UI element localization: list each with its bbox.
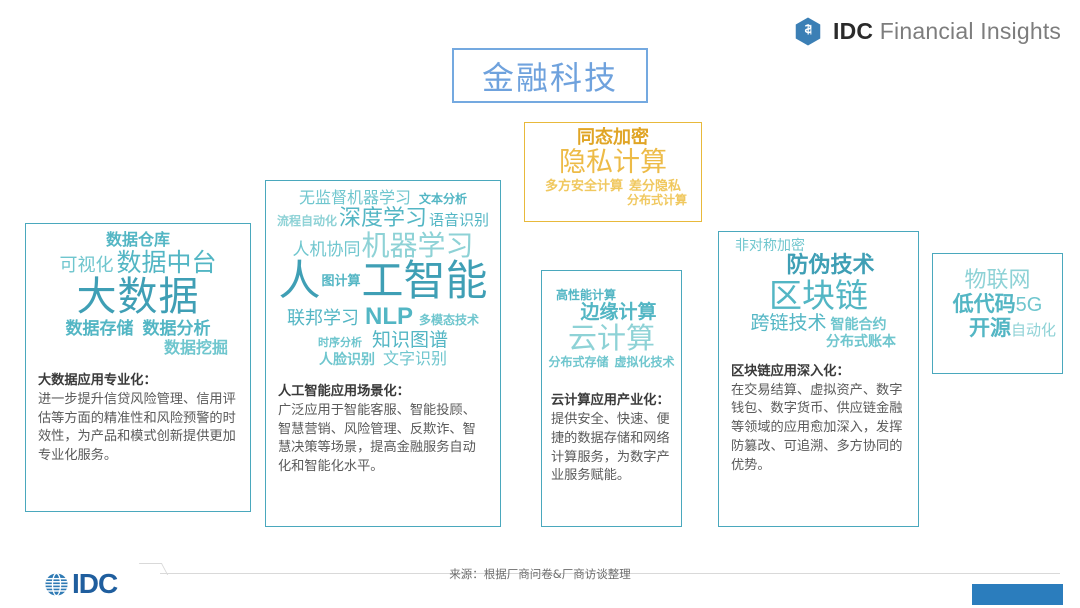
cloud-word: 知识图谱 [372,331,448,350]
cloud-word: 多模态技术 [419,314,479,326]
cloud-word: 低代码 [953,294,1016,315]
card-body-cloud: 云计算应用产业化：提供安全、快速、便捷的数据存储和网络计算服务，为数字产业服务赋… [542,370,681,494]
card-text: 提供安全、快速、便捷的数据存储和网络计算服务，为数字产业服务赋能。 [551,412,670,483]
cloud-word: 文本分析 [419,193,467,205]
cloud-word: 数据仓库 [106,232,170,248]
cloud-word: 5G [1016,295,1043,315]
brand-text: IDC Financial Insights [833,18,1061,45]
idc-logo-word: IDC [72,568,117,600]
cloud-word: 工智能 [362,260,488,303]
card-body-ai: 人工智能应用场景化：广泛应用于智能客服、智能投顾、智慧营销、风险管理、反欺诈、智… [266,369,500,485]
cloud-word: 云计算 [568,324,655,354]
cloud-word: 语音识别 [429,213,489,228]
brand-name-light: Financial Insights [873,18,1061,44]
card-ai[interactable]: 无监督机器学习文本分析 流程自动化深度学习语音识别 人机协同机器学习 人图计算工… [265,180,501,527]
cloud-word: 人脸识别 [319,353,375,367]
cloud-word: 物联网 [964,270,1030,292]
cloud-word: 人 [278,260,320,303]
card-lead: 人工智能应用场景化： [278,383,488,402]
idc-hex-logo-icon [794,16,822,47]
cloud-word: 防伪技术 [786,255,874,277]
cloud-word: 无监督机器学习 [299,190,411,206]
wordcloud-iot: 物联网 低代码5G 开源自动化 [933,254,1062,341]
cloud-word: 高性能计算 [556,289,616,301]
brand-name-bold: IDC [833,18,873,44]
cloud-word: 分布式计算 [627,194,687,206]
wordcloud-privacy: 同态加密 隐私计算 多方安全计算差分隐私 分布式计算 [525,123,701,208]
cloud-word: 多方安全计算 [545,180,623,193]
cloud-word: 可视化 [59,257,113,275]
card-iot[interactable]: 物联网 低代码5G 开源自动化 [932,253,1063,374]
card-body-bigdata: 大数据应用专业化：进一步提升信贷风险管理、信用评估等方面的精准性和风险预警的时效… [26,358,250,474]
card-lead: 云计算应用产业化： [551,392,672,411]
card-privacy-computing[interactable]: 同态加密 隐私计算 多方安全计算差分隐私 分布式计算 [524,122,702,222]
cloud-word: 时序分析 [318,337,362,348]
cloud-word: 数据挖掘 [164,340,228,356]
wordcloud-bigdata: 数据仓库 可视化数据中台 大数据 数据存储数据分析 数据挖掘 [26,224,250,358]
page-title-label: 金融科技 [482,53,618,99]
cloud-word: 图计算 [321,275,360,288]
cloud-word: 开源 [969,318,1011,339]
cloud-word: 差分隐私 [629,180,681,193]
cloud-word: 联邦学习 [287,310,359,328]
cloud-word: 数据中台 [116,250,216,276]
source-note: 来源：根据厂商问卷&厂商访谈整理 [0,566,1080,582]
cloud-word: 区块链 [769,279,868,313]
footer-accent-block [972,584,1063,605]
idc-footer-logo: IDC [44,568,117,600]
cloud-word: 边缘计算 [580,303,656,322]
idc-globe-icon [44,572,69,597]
card-lead: 大数据应用专业化： [38,372,238,391]
cloud-word: 大数据 [77,277,200,318]
idc-financial-insights-brand: IDC Financial Insights [794,16,1061,47]
card-text: 在交易结算、虚拟资产、数字钱包、数字货币、供应链金融等领域的应用愈加深入，发挥防… [731,383,902,473]
cloud-word: 分布式账本 [826,335,896,349]
cloud-word: 分布式存储 [548,356,608,368]
cloud-word: 深度学习 [339,208,427,230]
cloud-word: 数据存储 [66,321,134,338]
card-blockchain[interactable]: 非对称加密 防伪技术 区块链 跨链技术智能合约 分布式账本 区块链应用深入化：在… [718,231,919,527]
cloud-word: 虚拟化技术 [615,356,675,368]
cloud-word: 数据分析 [143,321,211,338]
card-text: 广泛应用于智能客服、智能投顾、智慧营销、风险管理、反欺诈、智慧决策等场景，提高金… [278,403,476,474]
card-bigdata[interactable]: 数据仓库 可视化数据中台 大数据 数据存储数据分析 数据挖掘 大数据应用专业化：… [25,223,251,512]
card-text: 进一步提升信贷风险管理、信用评估等方面的精准性和风险预警的时效性，为产品和模式创… [38,392,236,463]
wordcloud-ai: 无监督机器学习文本分析 流程自动化深度学习语音识别 人机协同机器学习 人图计算工… [266,181,500,369]
cloud-word: 智能合约 [831,318,887,332]
cloud-word: 非对称加密 [735,239,805,253]
card-body-blockchain: 区块链应用深入化：在交易结算、虚拟资产、数字钱包、数字货币、供应链金融等领域的应… [719,351,918,483]
cloud-word: NLP [365,305,413,329]
cloud-word: 流程自动化 [277,215,337,227]
cloud-word: 隐私计算 [559,149,667,177]
card-cloud-computing[interactable]: 高性能计算 边缘计算 云计算 分布式存储虚拟化技术 云计算应用产业化：提供安全、… [541,270,682,527]
slide-canvas: IDC Financial Insights 金融科技 数据仓库 可视化数据中台… [0,0,1080,608]
page-title: 金融科技 [452,48,648,103]
cloud-word: 文字识别 [383,351,447,367]
cloud-word: 同态加密 [577,129,649,147]
card-lead: 区块链应用深入化： [731,363,906,382]
wordcloud-blockchain: 非对称加密 防伪技术 区块链 跨链技术智能合约 分布式账本 [719,232,918,351]
cloud-word: 跨链技术 [750,314,826,333]
wordcloud-cloud: 高性能计算 边缘计算 云计算 分布式存储虚拟化技术 [542,271,681,370]
cloud-word: 自动化 [1011,323,1056,338]
